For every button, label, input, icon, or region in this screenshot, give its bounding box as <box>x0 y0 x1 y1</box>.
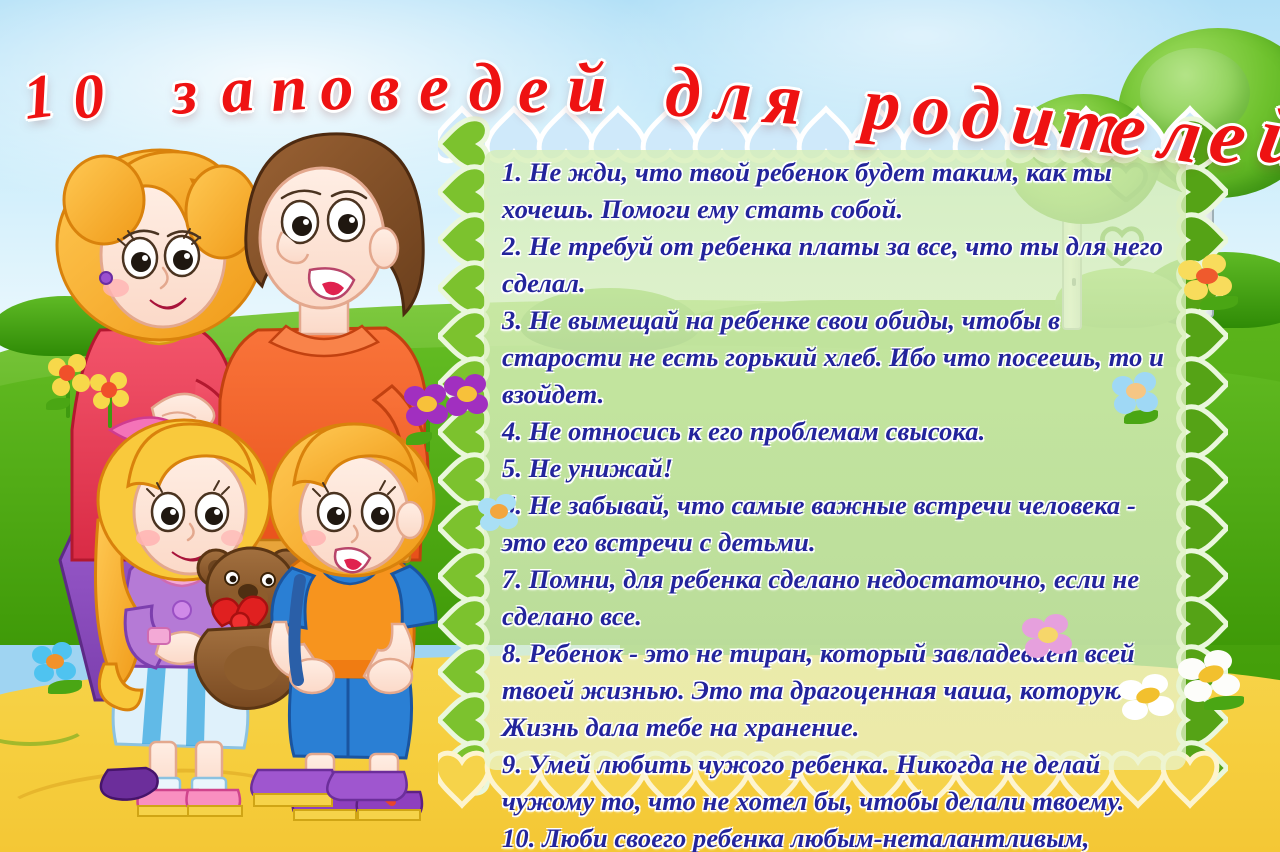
flower-center <box>1196 268 1218 284</box>
flower-daisy-panel <box>1118 672 1192 746</box>
father-shoes <box>251 770 406 806</box>
flower-center <box>457 386 477 402</box>
flower-yellow-left-2 <box>88 370 148 430</box>
flower-center <box>1126 383 1146 399</box>
flower-center <box>59 365 75 381</box>
flower-leaf <box>48 680 82 694</box>
commandment-item: 6. Не забывай, что самые важные встречи … <box>502 487 1170 561</box>
commandments-panel: 1. Не жди, что твой ребенок будет таким,… <box>438 104 1228 810</box>
flower-blue-right <box>1110 370 1180 440</box>
flower-leaf <box>1204 696 1244 710</box>
flower-blue-mid <box>476 492 536 552</box>
flower-center <box>490 504 508 519</box>
commandment-item: 10. Люби своего ребенка любым-неталантли… <box>502 820 1170 852</box>
commandment-item: 9. Умей любить чужого ребенка. Никогда н… <box>502 746 1170 820</box>
flower-blue-left <box>30 640 100 710</box>
poster-root: 10 заповедей для родителей <box>0 0 1280 852</box>
commandment-item: 1. Не жди, что твой ребенок будет таким,… <box>502 154 1170 228</box>
commandment-item: 4. Не относись к его проблемам свысока. <box>502 413 1170 450</box>
flower-leaf <box>1200 296 1238 310</box>
flower-center <box>46 654 64 669</box>
commandment-item: 2. Не требуй от ребенка платы за все, чт… <box>502 228 1170 302</box>
flower-purple-2 <box>440 372 506 444</box>
commandment-item: 5. Не унижай! <box>502 450 1170 487</box>
flower-pink-bottom <box>1020 612 1090 682</box>
flower-center <box>417 396 437 412</box>
figure-boy <box>270 424 436 820</box>
flower-center <box>101 382 117 398</box>
commandment-item: 3. Не вымещай на ребенке свои обиды, что… <box>502 302 1170 413</box>
flower-center <box>1038 627 1058 643</box>
flower-yellow-right <box>1178 252 1258 332</box>
